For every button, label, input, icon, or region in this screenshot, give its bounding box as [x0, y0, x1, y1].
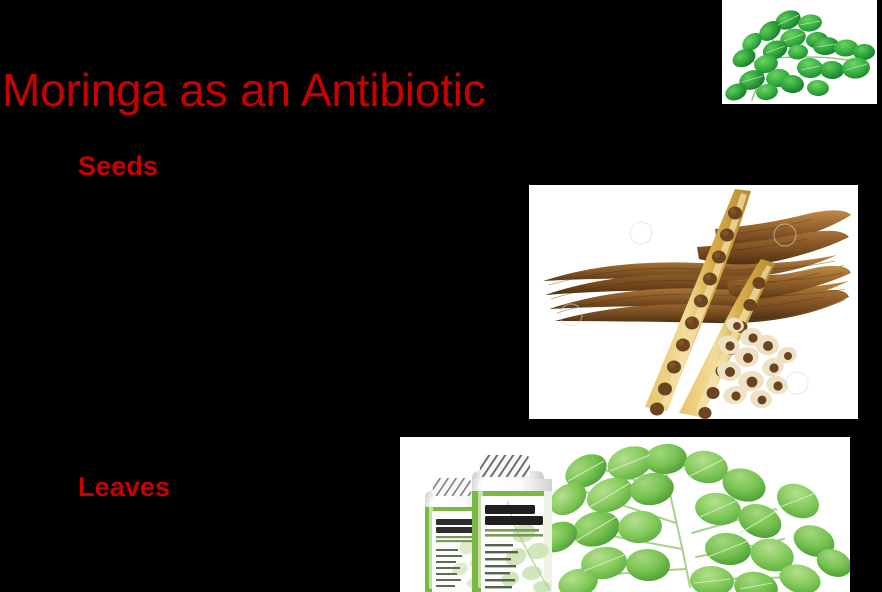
image-moringa-leaves-and-bottles: [400, 437, 850, 592]
body-label-seeds: Seeds: [78, 151, 158, 182]
moringa-leaf-sprig-graphic: [722, 0, 877, 104]
image-moringa-leaf-sprig: [722, 0, 877, 104]
moringa-leaves-bottles-graphic: [400, 437, 850, 592]
page-title: Moringa as an Antibiotic: [2, 66, 486, 114]
body-label-leaves: Leaves: [78, 472, 170, 503]
slide-canvas: Moringa as an Antibiotic Seeds Leaves: [0, 0, 882, 592]
moringa-seed-pods-graphic: [529, 185, 858, 419]
image-moringa-seed-pods: [529, 185, 858, 419]
